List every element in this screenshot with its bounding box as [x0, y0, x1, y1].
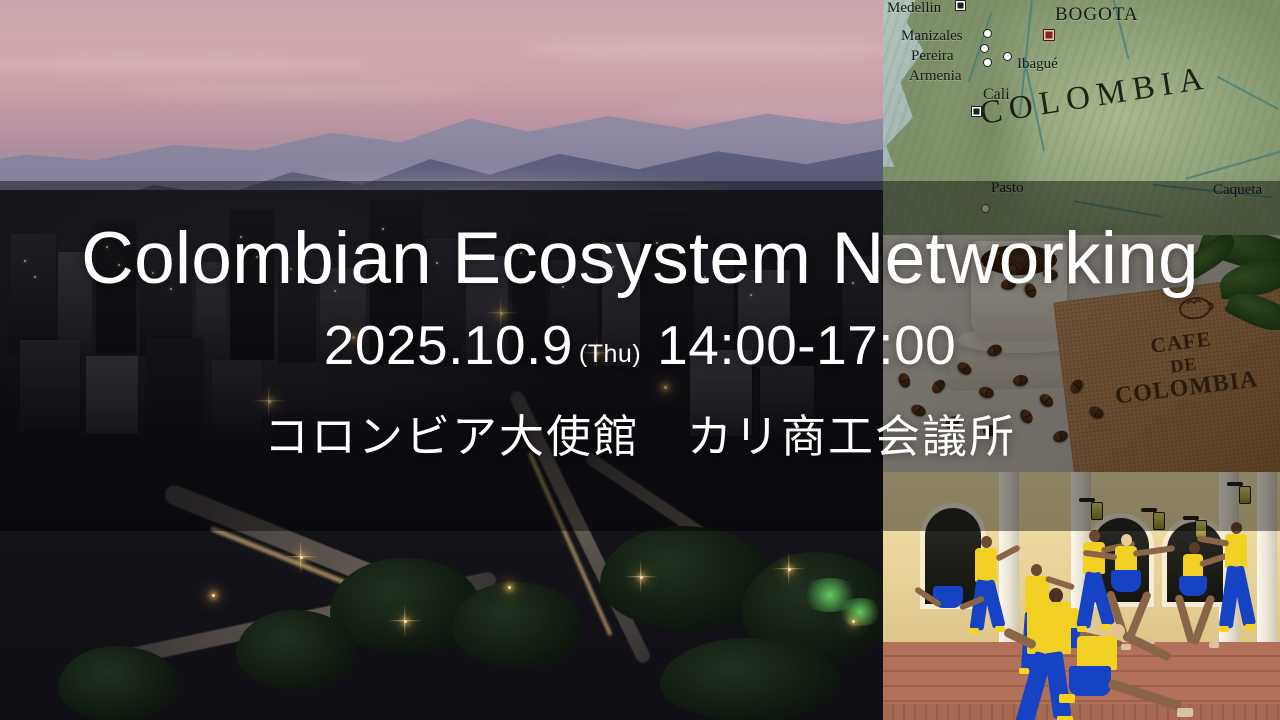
event-date: 2025.10.9	[324, 314, 573, 376]
event-datetime: 2025.10.9(Thu)14:00-17:00	[0, 318, 1280, 373]
event-title: Colombian Ecosystem Networking	[0, 222, 1280, 295]
event-organizers: コロンビア大使館 カリ商工会議所	[0, 414, 1280, 459]
event-banner: COLOMBIA Medellin Manizales Pereira Arme…	[0, 0, 1280, 720]
event-day-of-week: (Thu)	[573, 340, 647, 368]
banner-text: Colombian Ecosystem Networking 2025.10.9…	[0, 0, 1280, 720]
event-time: 14:00-17:00	[657, 314, 956, 376]
